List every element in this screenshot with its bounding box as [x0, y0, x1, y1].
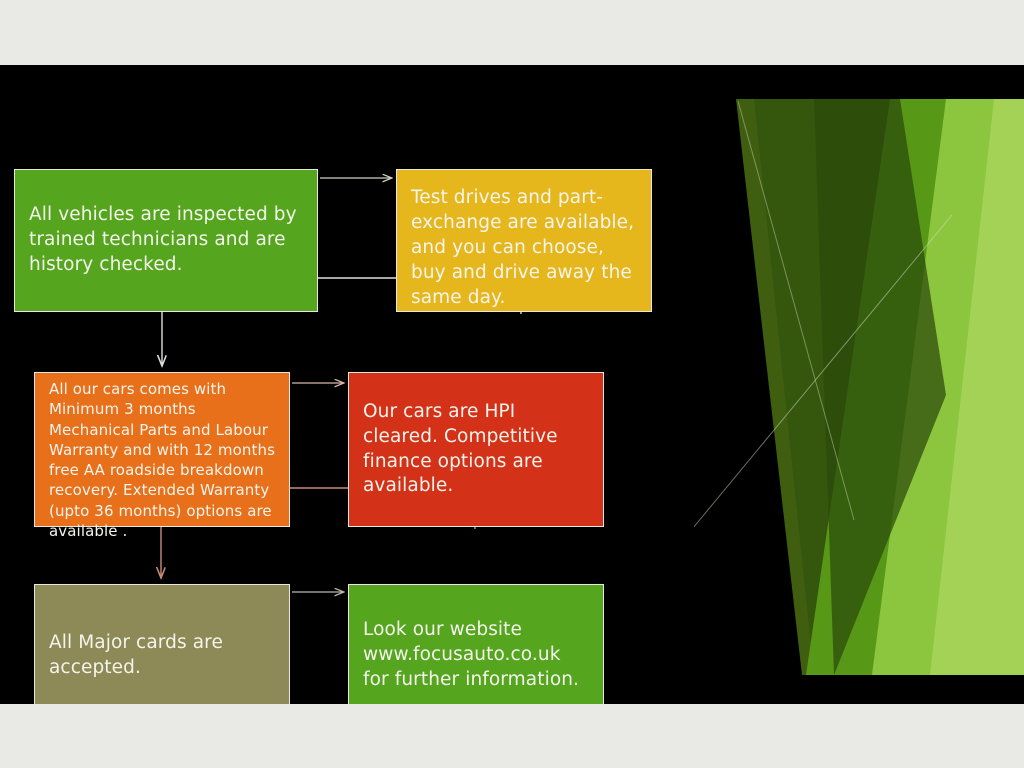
- polygon-light-green: [930, 99, 1024, 675]
- flow-box-warranty-text: All our cars comes with Minimum 3 months…: [49, 379, 275, 541]
- flow-box-warranty[interactable]: All our cars comes with Minimum 3 months…: [34, 372, 290, 527]
- flow-box-test-drives-text: Test drives and part-exchange are availa…: [411, 186, 637, 311]
- slide-canvas: All vehicles are inspected by trained te…: [0, 65, 1024, 704]
- polygon-mid-green: [806, 99, 1024, 675]
- flow-box-hpi-finance[interactable]: Our cars are HPI cleared. Competitive fi…: [348, 372, 604, 527]
- slide-viewer: All vehicles are inspected by trained te…: [0, 0, 1024, 768]
- polygon-dark-olive: [736, 99, 1024, 675]
- flow-box-cards-text: All Major cards are accepted.: [49, 631, 275, 681]
- flow-box-inspection[interactable]: All vehicles are inspected by trained te…: [14, 169, 318, 312]
- flow-box-website[interactable]: Look our website www.focusauto.co.uk for…: [348, 584, 604, 704]
- polygon-bright-green: [872, 99, 1024, 675]
- flow-box-test-drives[interactable]: Test drives and part-exchange are availa…: [396, 169, 652, 312]
- decorative-green-polygons-graphic: [694, 65, 1024, 704]
- polygon-shadow-wedge: [814, 99, 946, 675]
- thin-diagonal-highlight-upper: [738, 101, 854, 520]
- flow-box-inspection-text: All vehicles are inspected by trained te…: [29, 203, 303, 278]
- flow-box-cards[interactable]: All Major cards are accepted.: [34, 584, 290, 704]
- flow-box-hpi-finance-text: Our cars are HPI cleared. Competitive fi…: [363, 400, 589, 500]
- decorative-polygon-svg: [694, 65, 1024, 704]
- flow-box-website-text: Look our website www.focusauto.co.uk for…: [363, 618, 589, 693]
- thin-diagonal-highlight-lower: [694, 215, 952, 563]
- polygon-deep-green: [754, 99, 946, 675]
